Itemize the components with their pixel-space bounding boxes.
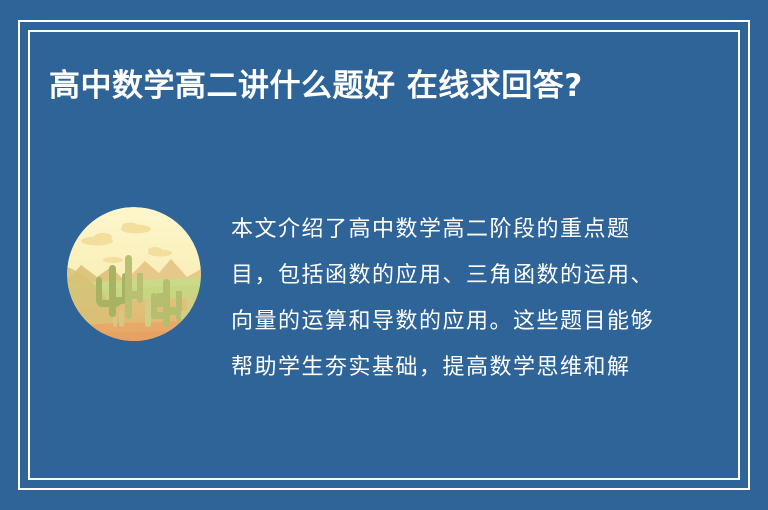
desert-cactus-icon — [67, 207, 201, 341]
article-summary-text: 本文介绍了高中数学高二阶段的重点题目，包括函数的应用、三角函数的运用、向量的运算… — [231, 207, 656, 391]
desert-cactus-illustration — [67, 207, 201, 341]
article-cover-card: 高中数学高二讲什么题好 在线求回答? — [0, 0, 768, 510]
page-title: 高中数学高二讲什么题好 在线求回答? — [49, 60, 669, 112]
